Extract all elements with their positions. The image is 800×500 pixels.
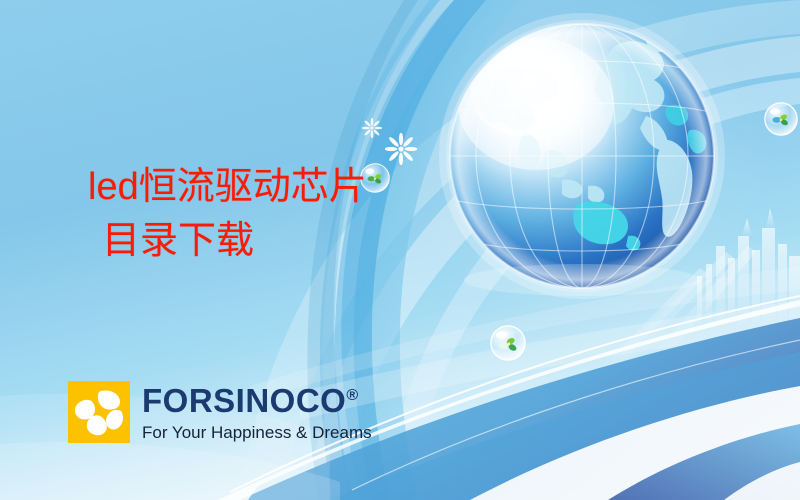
bubble-pinwheel-middle [490, 325, 526, 361]
bubble-pinwheel-right [764, 102, 798, 136]
banner-canvas: led恒流驱动芯片 目录下载 FORSINOCO® For Your Happi… [0, 0, 800, 500]
headline-line-2: 目录下载 [88, 216, 367, 266]
starburst-large [385, 133, 417, 165]
brand-tagline: For Your Happiness & Dreams [142, 424, 372, 441]
starburst-small [362, 118, 382, 138]
logo-text-block: FORSINOCO® For Your Happiness & Dreams [142, 384, 372, 441]
registered-trademark-icon: ® [346, 387, 358, 404]
four-petal-pinwheel-icon [68, 381, 130, 443]
city-skyline-icon [697, 208, 800, 324]
brand-name-word: FORSINOCO [142, 382, 346, 419]
headline-line-1: led恒流驱动芯片 [88, 166, 367, 208]
brand-name: FORSINOCO® [142, 384, 372, 417]
globe-icon [432, 8, 732, 308]
company-logo: FORSINOCO® For Your Happiness & Dreams [68, 381, 372, 443]
headline-text: led恒流驱动芯片 目录下载 [88, 162, 367, 266]
